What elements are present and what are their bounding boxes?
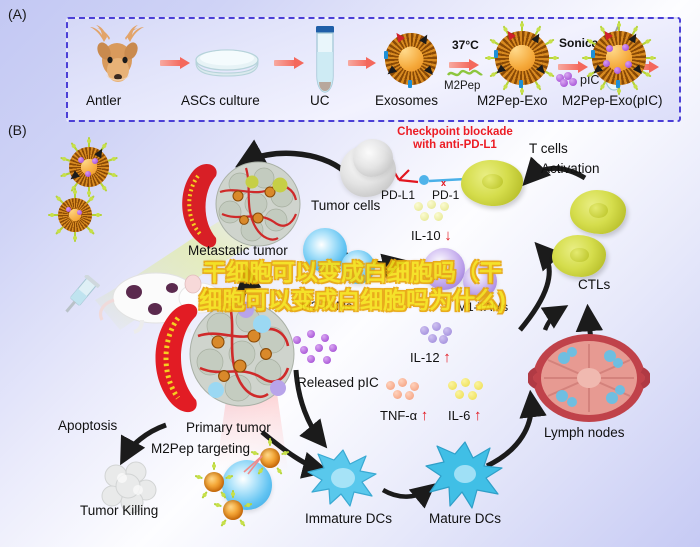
il-10-particles	[414, 200, 458, 226]
scientific-figure: x (A) Antler ASCs culture	[0, 0, 700, 547]
targeting-connector	[236, 452, 268, 484]
cytokine-il-6-name: IL-6	[448, 408, 470, 423]
checkpoint-blockade-label: Checkpoint blockade with anti-PD-L1	[375, 126, 535, 152]
cytokine-il-12-trend: ↑	[443, 349, 451, 366]
t-cell-1	[461, 160, 523, 206]
panel-a-step-label-ascs: ASCs culture	[181, 93, 260, 108]
m1-tam-cell-2	[463, 264, 497, 298]
injected-exosome-1	[69, 147, 109, 187]
panel-a-condition-m2pep-label: M2Pep	[444, 80, 480, 92]
activation-label: Activation	[541, 161, 600, 176]
checkpoint-line-1: Checkpoint blockade	[375, 126, 535, 139]
cytokine-tnf-alpha-name: TNF-α	[380, 408, 417, 423]
targeting-exosome-3	[223, 500, 243, 520]
m2pep-peptide-icon	[447, 68, 483, 80]
svg-text:x: x	[441, 178, 446, 188]
panel-a-tag: (A)	[8, 6, 27, 22]
cytokine-il-12-name: IL-12	[410, 350, 440, 365]
cytokine-il-12: IL-12 ↑	[410, 350, 451, 365]
ctls-label: CTLs	[578, 277, 610, 292]
tumor-cells-label: Tumor cells	[311, 198, 380, 213]
primary-tumor-icon	[142, 292, 306, 420]
panel-a-step-label-antler: Antler	[86, 93, 121, 108]
cytokine-il-10-name: IL-10	[411, 228, 441, 243]
il-6-particles	[448, 378, 492, 404]
m1-tams-label: M1-TAMs	[457, 300, 508, 314]
checkpoint-line-2: with anti-PD-L1	[375, 139, 535, 152]
panel-a-step-label-exosomes: Exosomes	[375, 93, 438, 108]
pd-l1-label: PD-L1	[381, 188, 415, 202]
tumor-killing-label: Tumor Killing	[80, 503, 158, 518]
m2-tams-label: M2-TAMs	[301, 299, 352, 313]
cytokine-tnf-alpha: TNF-α ↑	[380, 408, 428, 423]
panel-a-step-label-loaded-exo: M2Pep-Exo(pIC)	[562, 93, 663, 108]
m2pep-exosome-icon	[495, 31, 549, 85]
ctl-cell-2	[552, 235, 606, 277]
immature-dcs-label: Immature DCs	[305, 511, 392, 526]
cytokine-tnf-alpha-trend: ↑	[421, 407, 429, 424]
tnf-alpha-particles	[386, 378, 426, 404]
metastatic-tumor-label: Metastatic tumor	[188, 243, 288, 258]
deer-icon	[84, 24, 156, 86]
exosome-icon	[385, 33, 437, 85]
cytokine-il-6: IL-6 ↑	[448, 408, 482, 423]
t-cells-label: T cells	[529, 141, 568, 156]
immature-dc-icon	[304, 444, 382, 510]
panel-b-tag: (B)	[8, 122, 27, 138]
m1-tam-cell-1	[423, 248, 465, 290]
process-arrow-3	[348, 58, 376, 67]
lymph-nodes-label: Lymph nodes	[544, 425, 625, 440]
ctl-cell-1	[570, 190, 626, 234]
injected-exosome-2	[58, 198, 92, 232]
panel-a-step-label-m2pep-exo: M2Pep-Exo	[477, 93, 548, 108]
lymph-node-icon	[528, 330, 650, 426]
m2-tam-cell-2	[341, 250, 375, 284]
panel-a-condition-temperature: 37°C	[452, 38, 479, 52]
cytokine-il-6-trend: ↑	[474, 407, 482, 424]
petri-dish-icon	[192, 44, 262, 78]
process-arrow-2	[274, 58, 304, 67]
cytokine-il-10: IL-10 ↓	[411, 228, 452, 243]
mature-dcs-label: Mature DCs	[429, 511, 501, 526]
pic-particles-icon	[556, 72, 578, 86]
mature-dc-icon	[424, 440, 506, 510]
il-12-particles	[418, 322, 458, 346]
released-pic-particles	[293, 330, 351, 366]
primary-tumor-label: Primary tumor	[186, 420, 271, 435]
cytokine-il-10-trend: ↓	[444, 227, 452, 244]
targeting-exosome-2	[204, 472, 224, 492]
released-pic-label: Released pIC	[297, 375, 379, 390]
apoptosis-label: Apoptosis	[58, 418, 117, 433]
panel-a-step-label-uc: UC	[310, 93, 330, 108]
process-arrow-1	[160, 58, 190, 67]
centrifuge-tube-icon	[312, 26, 338, 94]
loaded-exosome-icon	[592, 31, 646, 85]
